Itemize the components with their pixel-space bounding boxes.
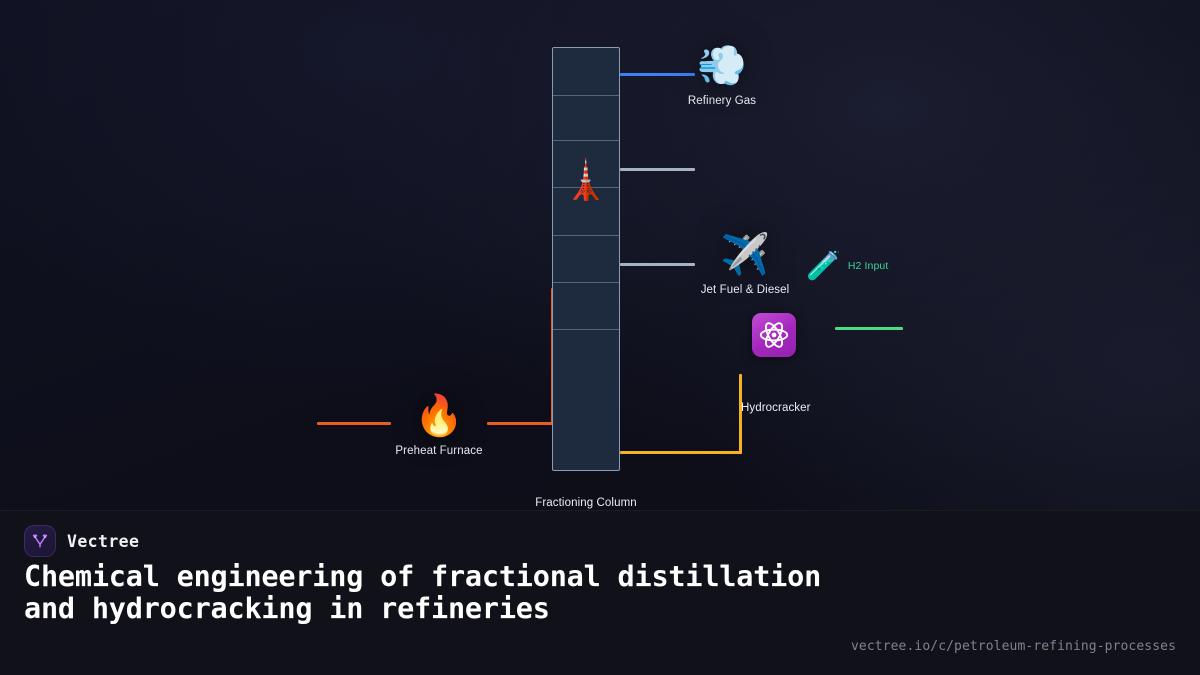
atom-icon: [752, 313, 796, 357]
gas-cloud-icon: 💨: [662, 46, 782, 86]
column-tray: [553, 235, 619, 236]
node-label: Jet Fuel & Diesel: [685, 284, 805, 296]
node-jet-fuel-diesel[interactable]: ✈️ Jet Fuel & Diesel: [685, 235, 805, 296]
footer-panel: Vectree Chemical engineering of fraction…: [0, 510, 1200, 675]
node-h2-input[interactable]: 🧪 H2 Input: [806, 252, 888, 280]
brand[interactable]: Vectree: [24, 525, 139, 557]
node-label: Hydrocracker: [741, 402, 901, 414]
h2-input-label: H2 Input: [848, 260, 889, 272]
node-label: Preheat Furnace: [379, 445, 499, 457]
vectree-logo-icon: [24, 525, 56, 557]
node-label: Fractioning Column: [486, 497, 686, 509]
column-tray: [553, 95, 619, 96]
column-tray: [553, 329, 619, 330]
diagram-canvas-background: 🗼 Fractioning Column 🔥 Preheat Furnace 💨…: [0, 0, 1200, 675]
source-url: vectree.io/c/petroleum-refining-processe…: [851, 639, 1176, 654]
node-label: Refinery Gas: [662, 95, 782, 107]
flow-middle-distillate: [620, 263, 695, 266]
flow-naphtha-draw: [620, 168, 695, 171]
node-hydrocracker-caption: Hydrocracker: [741, 393, 901, 414]
node-preheat-furnace[interactable]: 🔥 Preheat Furnace: [379, 396, 499, 457]
fire-icon: 🔥: [379, 396, 499, 436]
column-tray: [553, 282, 619, 283]
test-tube-icon: 🧪: [806, 252, 841, 280]
node-refinery-gas[interactable]: 💨 Refinery Gas: [662, 46, 782, 107]
tower-icon: 🗼: [562, 162, 609, 200]
fractioning-column-vessel[interactable]: 🗼: [552, 47, 620, 471]
fractioning-column-caption: Fractioning Column: [486, 488, 686, 509]
node-hydrocracker[interactable]: [752, 313, 796, 357]
flow-residue-riser: [739, 374, 742, 454]
page-title: Chemical engineering of fractional disti…: [24, 561, 824, 626]
flow-h2-feed: [835, 327, 903, 330]
airplane-icon: ✈️: [685, 235, 805, 275]
flow-residue-to-cracker: [620, 451, 742, 454]
column-tray: [553, 140, 619, 141]
process-flow-diagram: 🗼 Fractioning Column 🔥 Preheat Furnace 💨…: [0, 0, 1200, 510]
brand-name: Vectree: [67, 532, 139, 551]
